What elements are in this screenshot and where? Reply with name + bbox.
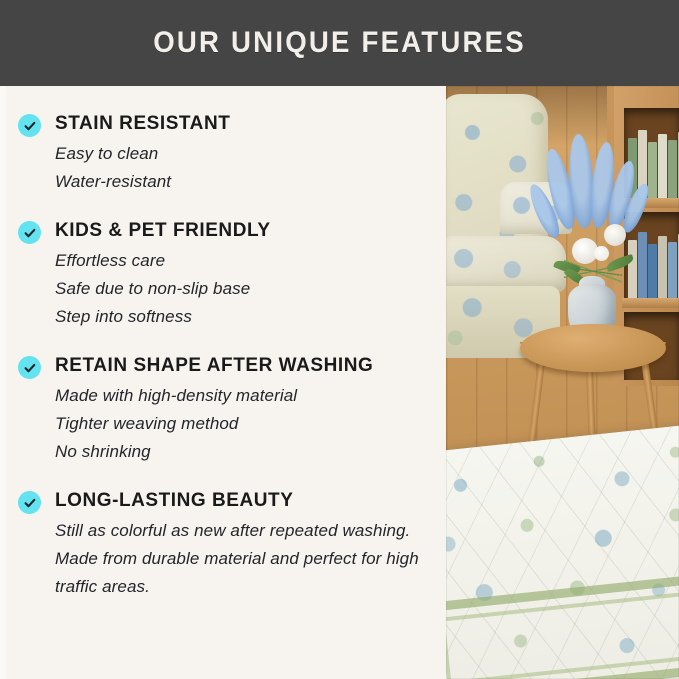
white-rose (594, 246, 609, 261)
check-circle-icon (18, 221, 41, 244)
feature-lines: Effortless care Safe due to non-slip bas… (55, 247, 446, 331)
features-panel: STAIN RESISTANT Easy to clean Water-resi… (0, 86, 446, 679)
feature-line: Easy to clean (55, 140, 446, 168)
features-infographic: OUR UNIQUE FEATURES STAIN RESISTANT Easy… (0, 0, 679, 679)
feature-line: Water-resistant (55, 168, 446, 196)
check-circle-icon (18, 491, 41, 514)
product-photo-panel (446, 86, 679, 679)
feature-title: KIDS & PET FRIENDLY (55, 219, 446, 242)
feature-line: Still as colorful as new after repeated … (55, 517, 437, 601)
feature-line: Made with high-density material (55, 382, 446, 410)
feature-line: No shrinking (55, 438, 446, 466)
feature-lines: Made with high-density material Tighter … (55, 382, 446, 466)
check-circle-icon (18, 114, 41, 137)
feature-item-long-lasting-beauty: LONG-LASTING BEAUTY Still as colorful as… (0, 489, 446, 601)
white-rose (604, 224, 626, 246)
feature-title: RETAIN SHAPE AFTER WASHING (55, 354, 446, 377)
feature-title: LONG-LASTING BEAUTY (55, 489, 446, 512)
shelf-divider (622, 298, 679, 308)
living-room-photo (446, 86, 679, 679)
feature-title: STAIN RESISTANT (55, 112, 446, 135)
header-band: OUR UNIQUE FEATURES (0, 0, 679, 86)
page-title: OUR UNIQUE FEATURES (153, 26, 526, 60)
feature-line: Safe due to non-slip base (55, 275, 446, 303)
armchair-seat (446, 236, 566, 292)
side-table-top (520, 324, 666, 372)
feature-line: Effortless care (55, 247, 446, 275)
feature-item-retain-shape: RETAIN SHAPE AFTER WASHING Made with hig… (0, 354, 446, 466)
feature-item-kids-pet-friendly: KIDS & PET FRIENDLY Effortless care Safe… (0, 219, 446, 331)
content-row: STAIN RESISTANT Easy to clean Water-resi… (0, 86, 679, 679)
check-circle-icon (18, 356, 41, 379)
feature-item-stain-resistant: STAIN RESISTANT Easy to clean Water-resi… (0, 112, 446, 196)
feature-lines: Easy to clean Water-resistant (55, 140, 446, 196)
feature-line: Tighter weaving method (55, 410, 446, 438)
feature-line: Step into softness (55, 303, 446, 331)
feature-lines: Still as colorful as new after repeated … (55, 517, 446, 601)
area-rug (446, 423, 679, 679)
